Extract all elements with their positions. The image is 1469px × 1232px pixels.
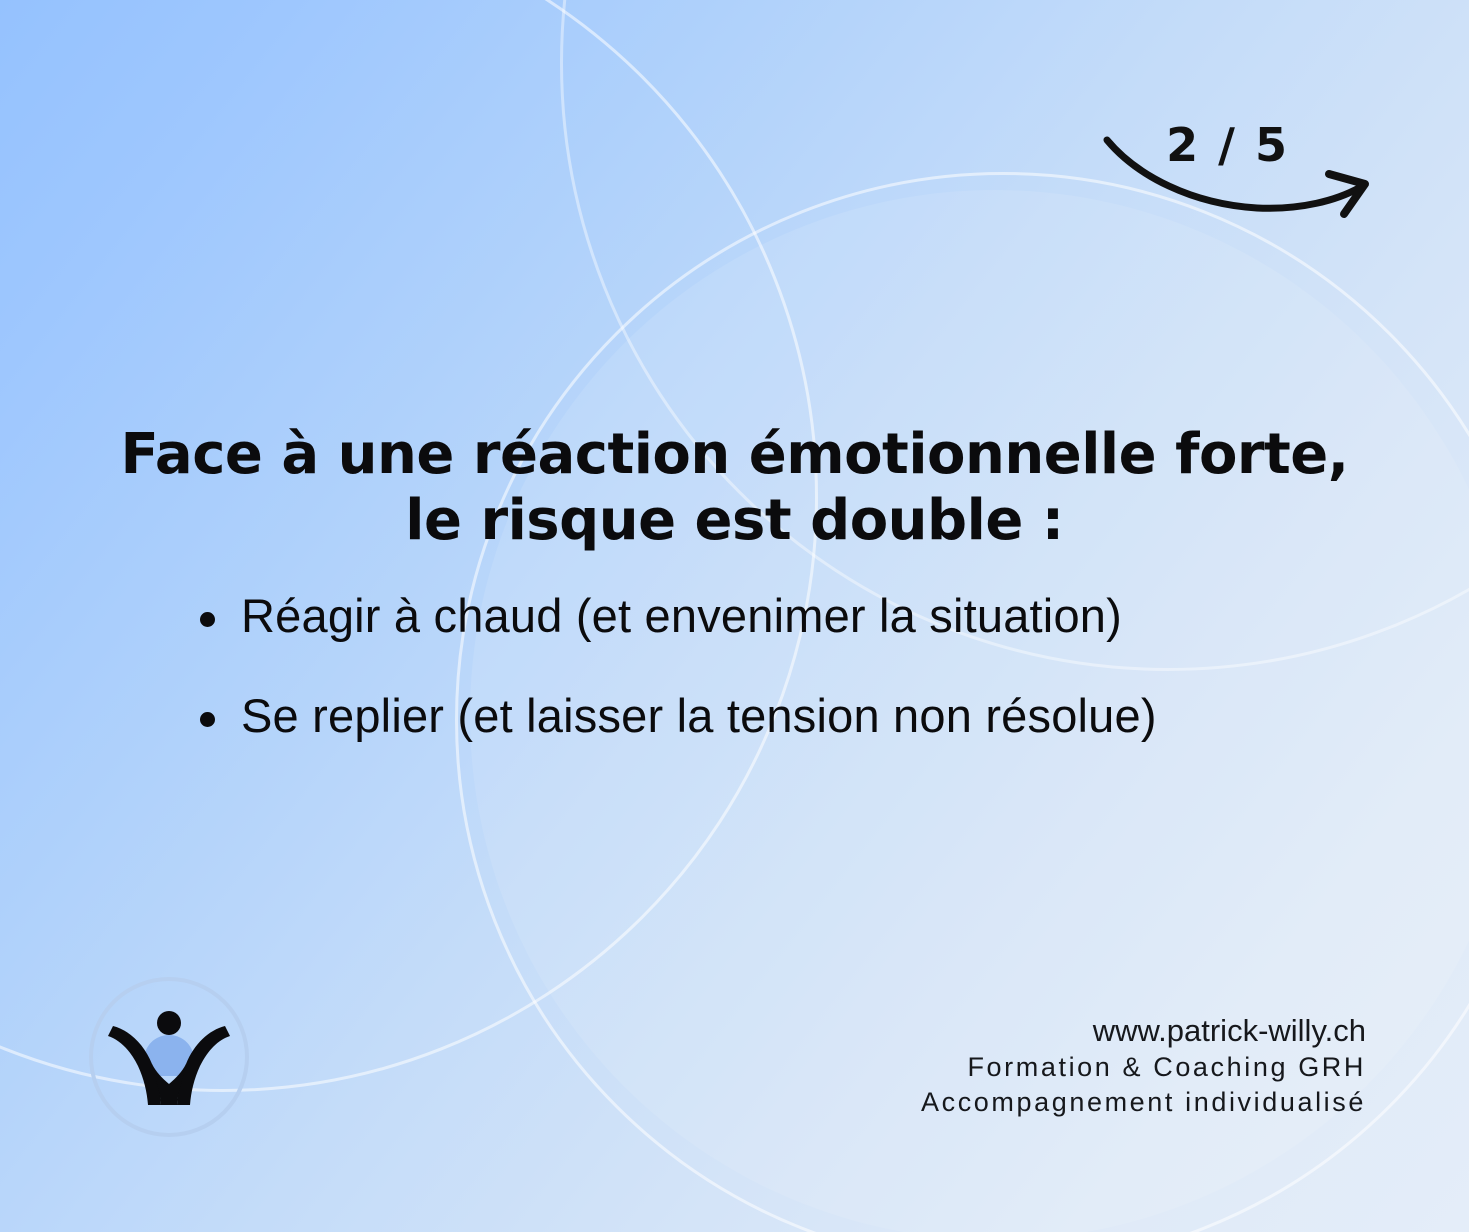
decorative-circle-top-right [560, 0, 1469, 671]
footer-tagline-2: Accompagnement individualisé [921, 1085, 1366, 1120]
list-item: Réagir à chaud (et envenimer la situatio… [200, 586, 1379, 648]
headline-line-2: le risque est double : [70, 488, 1399, 555]
curved-arrow-icon [1097, 128, 1397, 238]
list-item: Se replier (et laisser la tension non ré… [200, 686, 1379, 748]
headline-line-1: Face à une réaction émotionnelle forte, [70, 422, 1399, 489]
footer-credits: www.patrick-willy.ch Formation & Coachin… [921, 1012, 1366, 1120]
slide-canvas: 2 / 5 Face à une réaction émotionnelle f… [0, 0, 1469, 1232]
footer-tagline-1: Formation & Coaching GRH [921, 1050, 1366, 1085]
page-indicator: 2 / 5 [1097, 118, 1397, 238]
website-url[interactable]: www.patrick-willy.ch [921, 1012, 1366, 1050]
list-item-label: Réagir à chaud (et envenimer la situatio… [241, 586, 1122, 646]
bullet-list: Réagir à chaud (et envenimer la situatio… [200, 586, 1379, 786]
bullet-dot-icon [200, 712, 215, 727]
list-item-label: Se replier (et laisser la tension non ré… [241, 686, 1157, 746]
page-title: Face à une réaction émotionnelle forte, … [0, 422, 1469, 555]
brand-logo [84, 972, 254, 1142]
person-logo-icon [84, 972, 254, 1142]
bullet-dot-icon [200, 612, 215, 627]
